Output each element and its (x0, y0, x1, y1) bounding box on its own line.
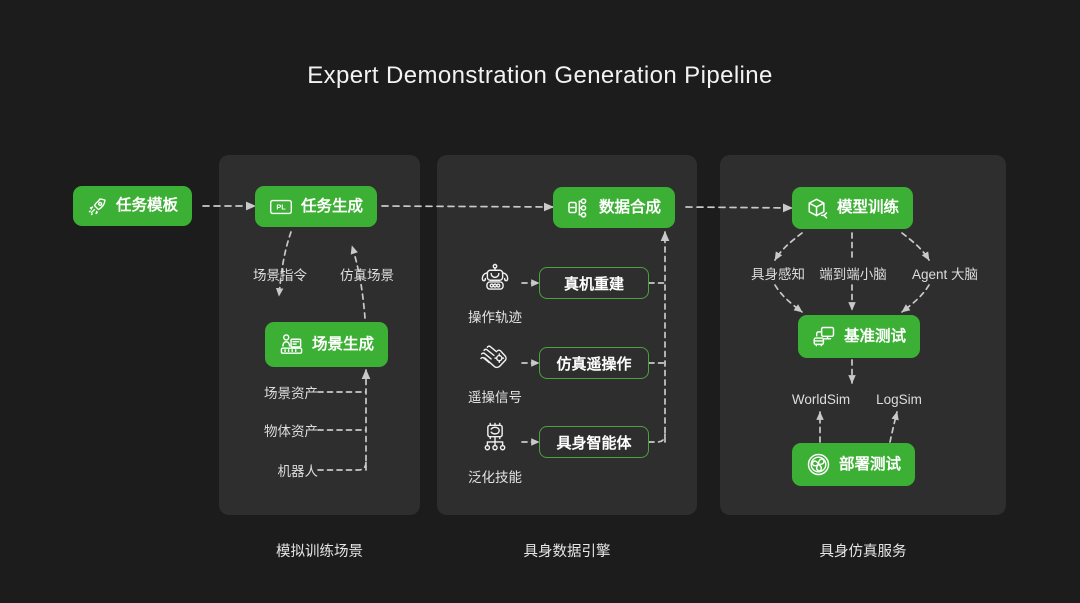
node-deployment-test[interactable]: 部署测试 (792, 443, 915, 486)
cube-train-icon (806, 197, 829, 220)
data-sync-icon (567, 197, 591, 219)
source-label: 遥操信号 (455, 386, 535, 406)
rocket-icon (87, 196, 108, 217)
node-benchmark-test[interactable]: 基准测试 (798, 315, 920, 358)
panel-caption-embodied-data-engine: 具身数据引擎 (437, 540, 697, 561)
node-label: 部署测试 (839, 457, 901, 473)
node-model-training[interactable]: 模型训练 (792, 187, 913, 229)
robot-icon (455, 258, 535, 304)
box-embodied-agent[interactable]: 具身智能体 (539, 426, 649, 458)
node-label: 场景生成 (312, 337, 374, 353)
edge-label-agent-brain: Agent 大脑 (896, 263, 994, 283)
node-label: 任务模板 (116, 198, 178, 214)
source-label: 泛化技能 (455, 466, 535, 486)
node-label: 任务生成 (301, 199, 363, 215)
box-real-machine-reconstruction[interactable]: 真机重建 (539, 267, 649, 299)
edge-label-sim-scene: 仿真场景 (323, 264, 411, 284)
node-task-template[interactable]: 任务模板 (73, 186, 192, 226)
edge-label-end-to-end-cerebellum: 端到端小脑 (809, 263, 897, 283)
panel-caption-simulation-training-scene: 模拟训练场景 (219, 540, 420, 561)
edge-label-embodied-perception: 具身感知 (736, 263, 820, 283)
source-generalization-skill: 泛化技能 (455, 418, 535, 486)
benchmark-monitor-icon (812, 325, 836, 348)
pl-frame-icon: PL (269, 197, 293, 217)
node-label: 基准测试 (844, 329, 906, 345)
source-operation-trajectory: 操作轨迹 (455, 258, 535, 326)
panel-caption-embodied-simulation-service: 具身仿真服务 (720, 540, 1006, 561)
node-task-generation[interactable]: PL 任务生成 (255, 186, 377, 227)
deploy-fan-icon (806, 452, 831, 477)
input-label-object-asset: 物体资产 (228, 420, 318, 440)
page-title: Expert Demonstration Generation Pipeline (0, 62, 1080, 90)
box-simulated-teleoperation[interactable]: 仿真遥操作 (539, 347, 649, 379)
edge-label-scene-instruction: 场景指令 (236, 264, 324, 284)
neural-chip-icon (455, 418, 535, 464)
input-label-scene-asset: 场景资产 (228, 382, 318, 402)
diagram-canvas: Expert Demonstration Generation Pipeline (0, 0, 1080, 603)
scene-build-icon (279, 333, 304, 357)
svg-text:PL: PL (276, 202, 286, 211)
glove-icon (455, 338, 535, 384)
node-label: 数据合成 (599, 200, 661, 216)
node-label: 模型训练 (837, 200, 899, 216)
source-teleop-signal: 遥操信号 (455, 338, 535, 406)
input-label-robot: 机器人 (228, 460, 318, 480)
edge-label-logsim: LogSim (862, 392, 936, 407)
edge-label-worldsim: WorldSim (775, 392, 867, 407)
source-label: 操作轨迹 (455, 306, 535, 326)
node-data-synthesis[interactable]: 数据合成 (553, 187, 675, 228)
node-scene-generation[interactable]: 场景生成 (265, 322, 388, 367)
